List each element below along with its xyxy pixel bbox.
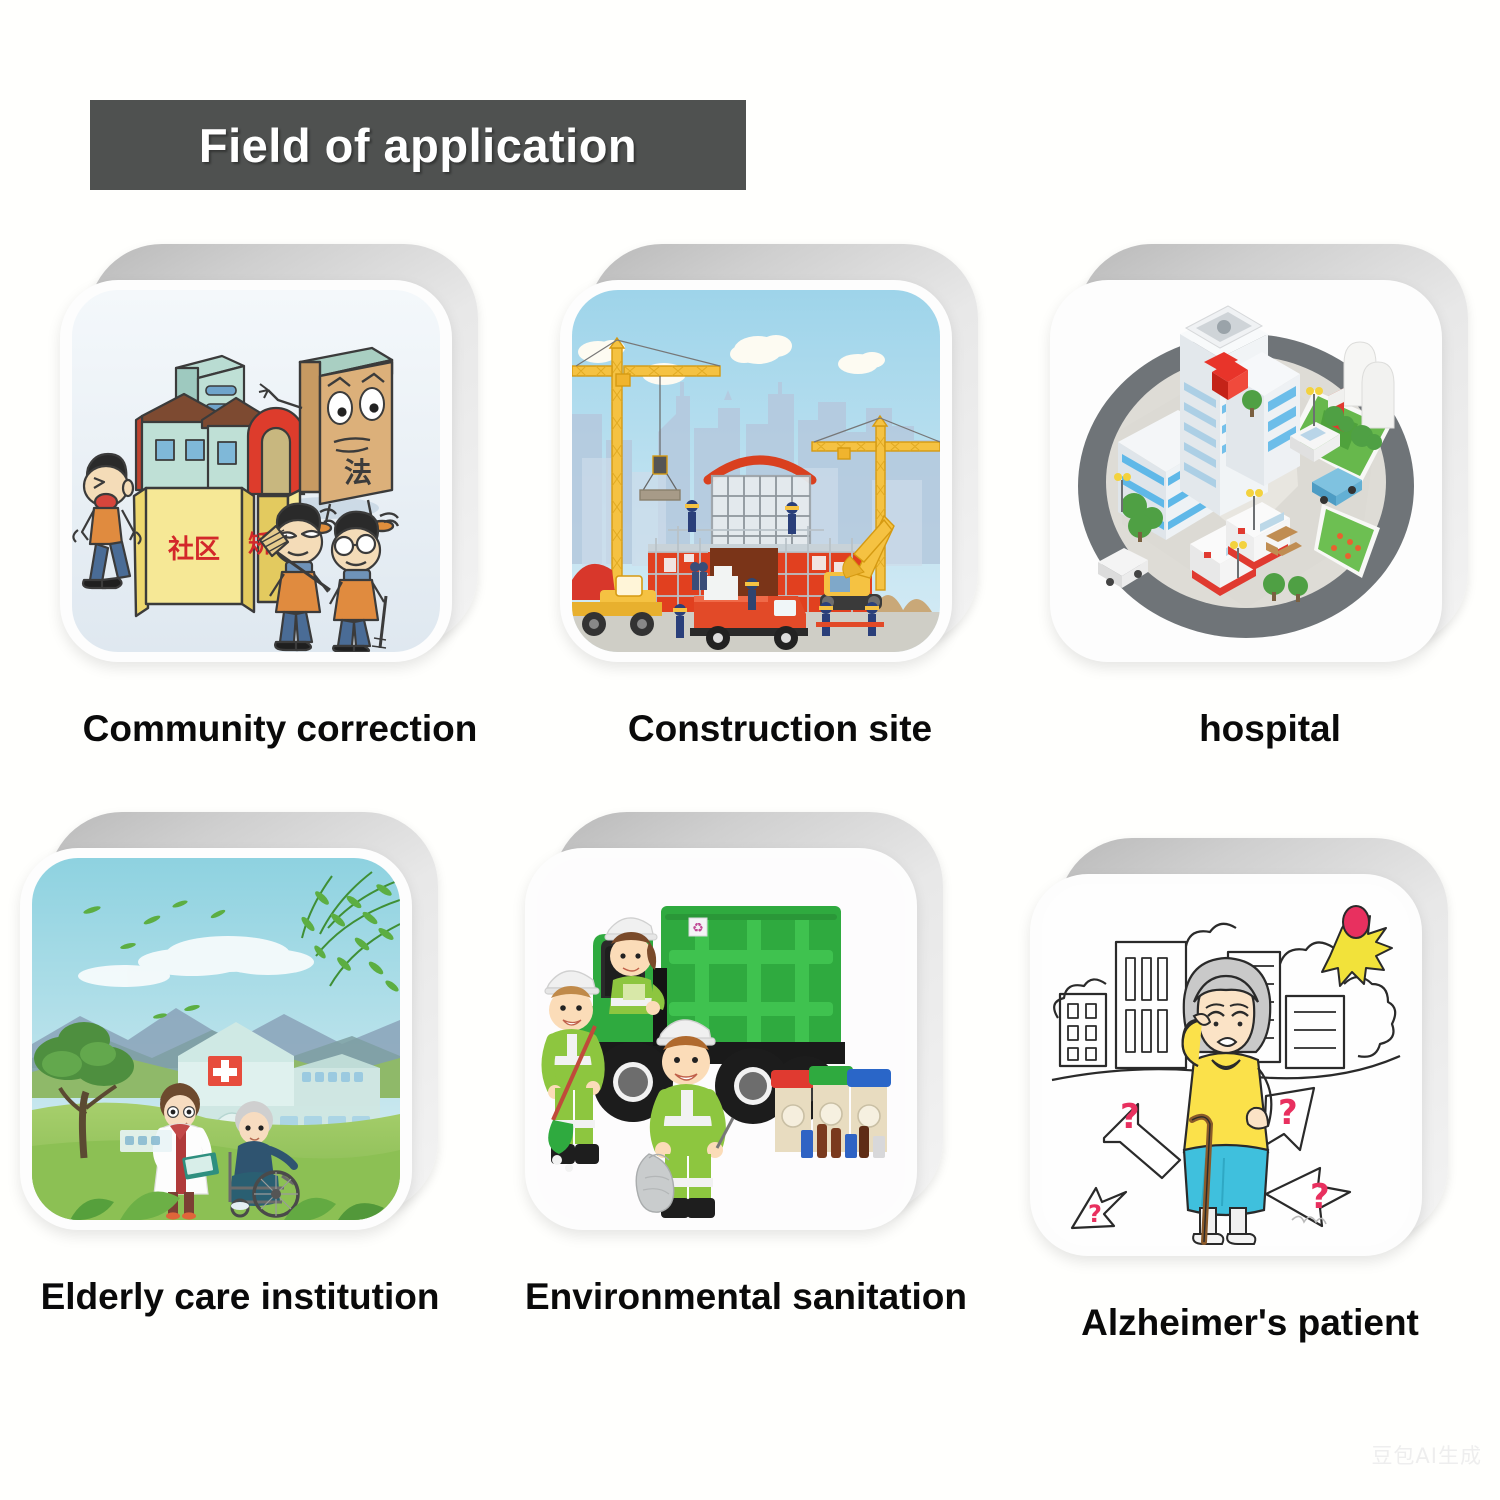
illustration-community-correction: 社区 矫正 (72, 290, 440, 652)
card-alzheimers-patient[interactable]: ? ? ? ? (1030, 850, 1470, 1320)
ai-watermark: 豆包AI生成 (1371, 1440, 1482, 1470)
caption-community-correction: Community correction (60, 708, 500, 750)
svg-text:♻: ♻ (692, 921, 704, 936)
svg-text:?: ? (1278, 1093, 1298, 1133)
illustration-environmental-sanitation: ♻ (537, 858, 905, 1220)
caption-elderly-care-institution: Elderly care institution (20, 1276, 460, 1318)
card-environmental-sanitation[interactable]: ♻ (525, 824, 965, 1314)
card-sheet (20, 848, 412, 1230)
card-community-correction[interactable]: 社区 矫正 (60, 256, 500, 736)
svg-text:法: 法 (344, 456, 372, 489)
card-hospital[interactable]: hospital (1050, 256, 1490, 736)
svg-text:?: ? (1088, 1200, 1102, 1228)
caption-construction-site: Construction site (560, 708, 1000, 750)
svg-text:?: ? (1310, 1177, 1330, 1217)
card-sheet: 社区 矫正 (60, 280, 452, 662)
card-sheet (1050, 280, 1442, 662)
card-sheet: ♻ (525, 848, 917, 1230)
fence-sign-text: 社区 (168, 534, 220, 565)
illustration-construction-site (572, 290, 940, 652)
svg-text:?: ? (1120, 1097, 1140, 1137)
illustration-elderly-care-institution (32, 858, 400, 1220)
illustration-alzheimers-patient: ? ? ? ? (1042, 884, 1410, 1246)
card-sheet (560, 280, 952, 662)
card-elderly-care-institution[interactable]: Elderly care institution (20, 824, 460, 1314)
caption-alzheimers-patient: Alzheimer's patient (1030, 1302, 1470, 1344)
caption-hospital: hospital (1050, 708, 1490, 750)
application-field-grid: 社区 矫正 (0, 0, 1500, 1500)
caption-environmental-sanitation: Environmental sanitation (525, 1276, 965, 1318)
svg-text:社区: 社区 (168, 534, 220, 565)
card-construction-site[interactable]: Construction site (560, 256, 1000, 736)
illustration-hospital (1062, 290, 1430, 652)
card-sheet: ? ? ? ? (1030, 874, 1422, 1256)
